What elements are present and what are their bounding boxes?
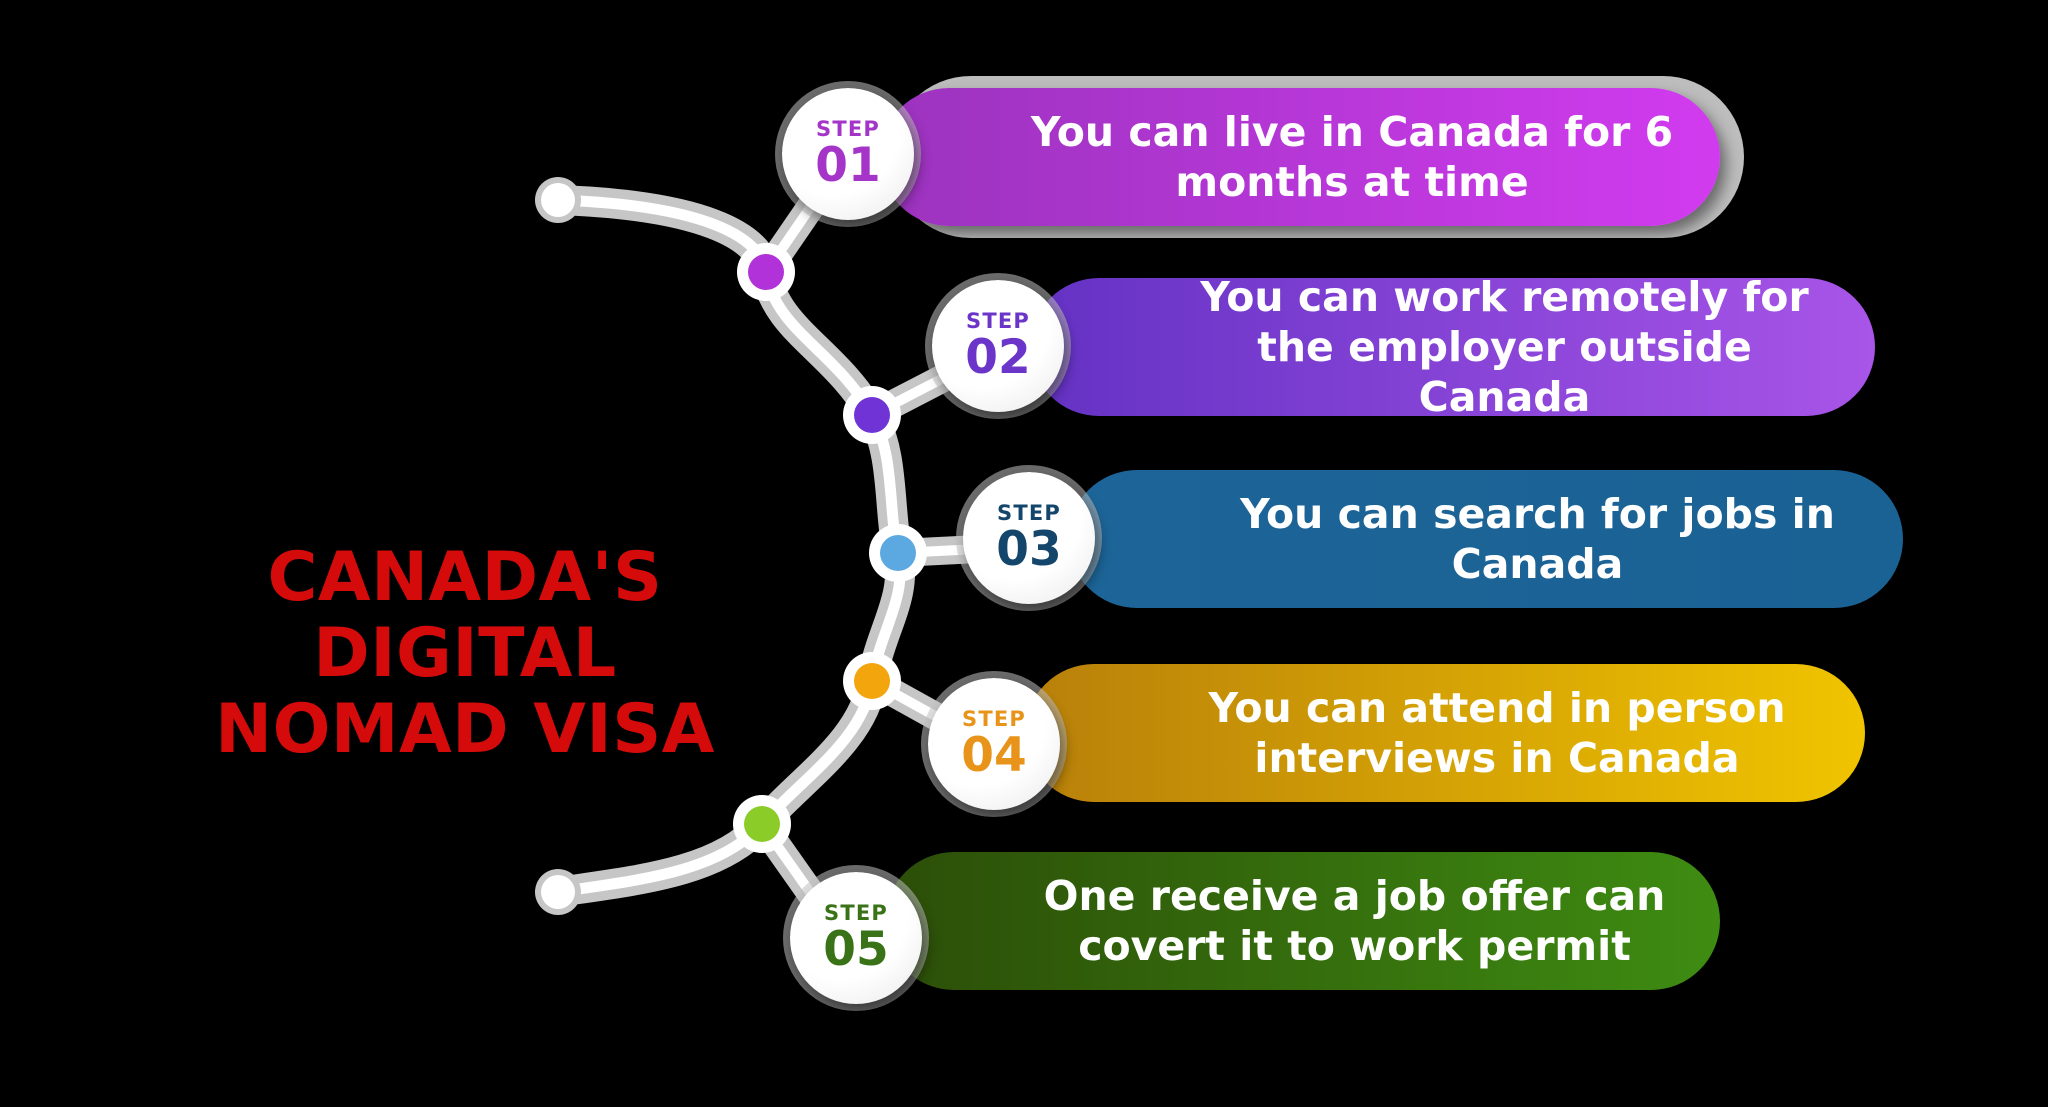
step-01-label: STEP xyxy=(816,119,880,140)
step-badge-02[interactable]: STEP 02 xyxy=(932,280,1064,412)
step-05-bar[interactable]: One receive a job offer can covert it to… xyxy=(885,852,1720,990)
path-endpoint-dots xyxy=(535,177,581,915)
step-03-text: You can search for jobs in Canada xyxy=(1218,489,1857,589)
step-badge-03[interactable]: STEP 03 xyxy=(963,472,1095,604)
step-03-label: STEP xyxy=(997,503,1061,524)
infographic-canvas: CANADA'S DIGITAL NOMAD VISA xyxy=(0,0,2048,1107)
node-dot-05 xyxy=(744,806,780,842)
step-04-label: STEP xyxy=(962,709,1026,730)
step-02-bar[interactable]: You can work remotely for the employer o… xyxy=(1030,278,1875,416)
step-04-bar[interactable]: You can attend in person interviews in C… xyxy=(1025,664,1865,802)
step-04-text: You can attend in person interviews in C… xyxy=(1175,683,1819,783)
step-03-bar[interactable]: You can search for jobs in Canada xyxy=(1068,470,1903,608)
step-01-number: 01 xyxy=(815,142,880,189)
step-03-number: 03 xyxy=(996,526,1061,573)
step-badge-04[interactable]: STEP 04 xyxy=(928,678,1060,810)
step-05-number: 05 xyxy=(823,926,888,973)
node-dot-03 xyxy=(880,535,916,571)
step-02-number: 02 xyxy=(965,334,1030,381)
step-02-label: STEP xyxy=(966,311,1030,332)
step-01-bar[interactable]: You can live in Canada for 6 months at t… xyxy=(880,88,1720,226)
step-badge-01[interactable]: STEP 01 xyxy=(782,88,914,220)
step-badge-05[interactable]: STEP 05 xyxy=(790,872,922,1004)
step-05-label: STEP xyxy=(824,903,888,924)
node-dot-04 xyxy=(854,663,890,699)
step-02-text: You can work remotely for the employer o… xyxy=(1180,272,1829,422)
node-dot-01 xyxy=(748,254,784,290)
step-01-text: You can live in Canada for 6 months at t… xyxy=(1030,107,1674,207)
step-05-text: One receive a job offer can covert it to… xyxy=(1035,871,1674,971)
step-04-number: 04 xyxy=(961,732,1026,779)
node-dot-02 xyxy=(854,397,890,433)
